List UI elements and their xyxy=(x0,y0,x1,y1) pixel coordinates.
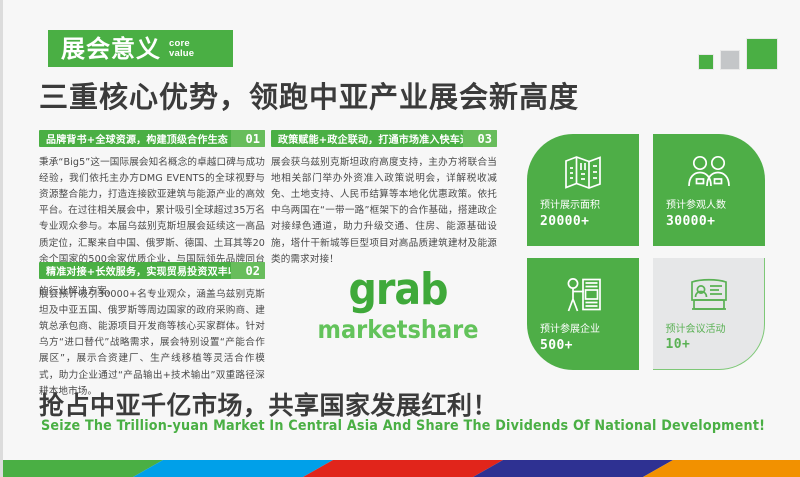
stat-value-conferences: 10+ xyxy=(666,337,752,352)
stat-label-conferences: 预计会议活动 xyxy=(666,324,752,337)
stat-card-exhibitors: 预计参展企业 500+ xyxy=(527,258,639,370)
section-block-03: 政策赋能+政企联动，打通市场准入快车道 / 03 展会获乌兹别克斯坦政府高度支持… xyxy=(271,130,497,268)
stat-card-visitors: 预计参观人数 30000+ xyxy=(653,134,765,246)
core-value-badge: 展会意义 core value xyxy=(48,30,233,67)
stat-label-exhibitors: 预计参展企业 xyxy=(540,324,626,337)
section-header-03: 政策赋能+政企联动，打通市场准入快车道 / 03 xyxy=(271,130,497,147)
grab-word-grab: grab xyxy=(283,268,513,312)
strip-segment-navy xyxy=(473,460,673,477)
section-body-03: 展会获乌兹别克斯坦政府高度支持，主办方将联合当地相关部门举办外资准入政策说明会，… xyxy=(271,155,497,268)
visitors-icon xyxy=(686,151,732,193)
exhibitor-icon xyxy=(563,275,603,317)
stat-label-visitors: 预计参观人数 xyxy=(666,200,752,213)
stat-label-exhibition-area: 预计展示面积 xyxy=(540,200,626,213)
core-value-en-line2: value xyxy=(169,49,194,59)
grab-marketshare-wordmark: grab marketshare xyxy=(283,268,513,342)
grab-word-marketshare: marketshare xyxy=(283,317,513,342)
slogan-chinese: 抢占中亚千亿市场，共享国家发展红利！ xyxy=(39,386,498,422)
decorative-bar-chart-blocks xyxy=(698,38,778,70)
map-icon xyxy=(563,151,603,193)
stat-card-grid: 预计展示面积 20000+ 预计参观人数 30000+ xyxy=(527,134,765,370)
section-number-01: 01 xyxy=(231,130,265,147)
stat-value-visitors: 30000+ xyxy=(666,214,752,229)
section-header-02: 精准对接+长效服务，实现贸易投资双丰收 / 02 xyxy=(39,262,265,279)
strip-segment-red xyxy=(303,460,503,477)
poster-canvas: 展会意义 core value 三重核心优势，领跑中亚产业展会新高度 品牌背书+… xyxy=(0,0,800,477)
stat-value-exhibition-area: 20000+ xyxy=(540,214,626,229)
section-number-02: 02 xyxy=(231,262,265,279)
deco-block-medium-icon xyxy=(720,50,740,70)
strip-segment-blue xyxy=(133,460,333,477)
stat-value-exhibitors: 500+ xyxy=(540,338,626,353)
bottom-color-strip xyxy=(3,460,800,477)
slogan-english: Seize The Trillion-yuan Market In Centra… xyxy=(41,418,765,434)
conference-icon xyxy=(687,275,731,317)
section-body-02: 展会预计吸引30000+名专业观众，涵盖乌兹别克斯坦及中亚五国、俄罗斯等周边国家… xyxy=(39,287,265,400)
section-block-02: 精准对接+长效服务，实现贸易投资双丰收 / 02 展会预计吸引30000+名专业… xyxy=(39,262,265,400)
section-title-01: 品牌背书+全球资源，构建顶级合作生态 xyxy=(39,131,228,146)
core-value-title-en: core value xyxy=(169,39,194,58)
deco-block-small-icon xyxy=(698,54,714,70)
stat-card-conferences: 预计会议活动 10+ xyxy=(653,258,765,370)
core-value-title-cn: 展会意义 xyxy=(61,37,161,61)
page-title: 三重核心优势，领跑中亚产业展会新高度 xyxy=(39,80,579,115)
section-header-01: 品牌背书+全球资源，构建顶级合作生态 / 01 xyxy=(39,130,265,147)
deco-block-large-icon xyxy=(746,38,778,70)
section-title-02: 精准对接+长效服务，实现贸易投资双丰收 xyxy=(39,263,238,278)
stat-card-exhibition-area: 预计展示面积 20000+ xyxy=(527,134,639,246)
section-title-03: 政策赋能+政企联动，打通市场准入快车道 xyxy=(271,131,470,146)
section-number-03: 03 xyxy=(463,130,497,147)
